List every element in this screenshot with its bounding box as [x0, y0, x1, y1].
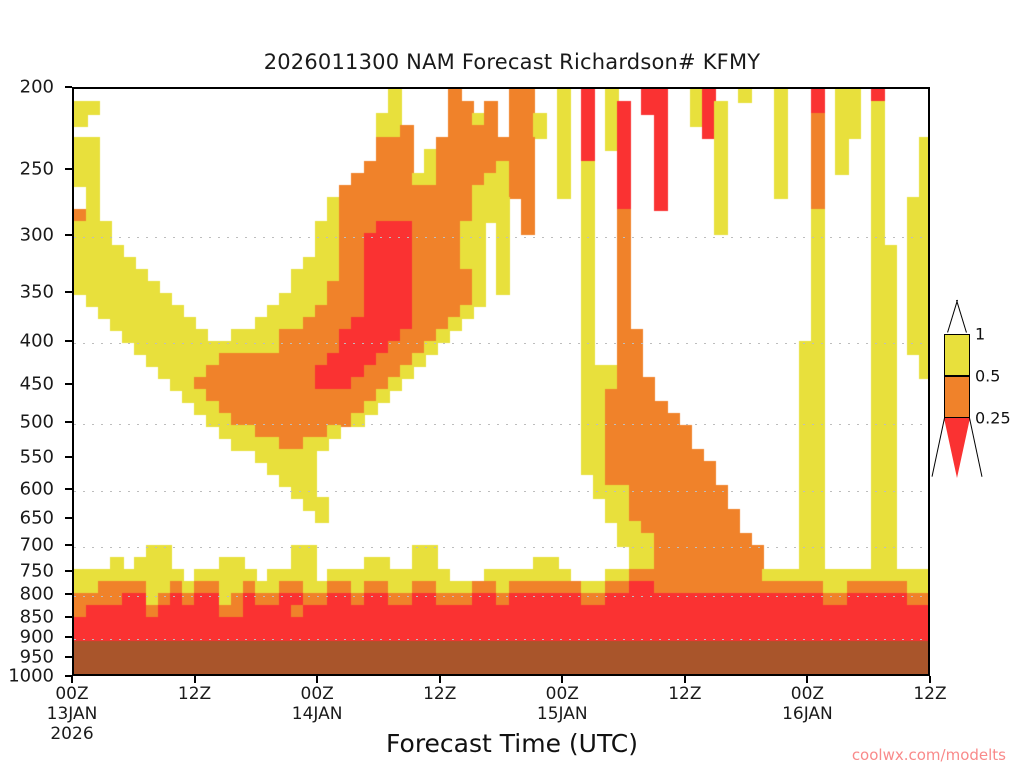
y-tick-500	[65, 421, 72, 423]
x-tick-60h	[684, 676, 686, 683]
y-tick-label-800: 800	[20, 584, 54, 605]
x-tick-time-48h: 00Z	[546, 684, 579, 704]
y-tick-750	[65, 570, 72, 572]
y-tick-850	[65, 616, 72, 618]
y-tick-200	[65, 86, 72, 88]
y-tick-300	[65, 234, 72, 236]
x-tick-date-0h: 13JAN	[47, 704, 98, 724]
y-tick-label-400: 400	[20, 330, 54, 351]
colorbar-segment-1	[944, 334, 970, 376]
plot-area	[72, 87, 930, 676]
y-tick-label-450: 450	[20, 373, 54, 394]
y-tick-label-850: 850	[20, 606, 54, 627]
watermark: coolwx.com/modelts	[852, 746, 1006, 764]
y-tick-label-650: 650	[20, 508, 54, 529]
y-tick-label-750: 750	[20, 560, 54, 581]
x-tick-date-72h: 16JAN	[782, 704, 833, 724]
y-tick-550	[65, 456, 72, 458]
y-axis: 2002503003504004505005506006507007508008…	[0, 87, 66, 676]
y-tick-label-250: 250	[20, 158, 54, 179]
x-tick-time-24h: 00Z	[301, 684, 334, 704]
x-tick-time-12h: 12Z	[178, 684, 211, 704]
x-tick-72h	[806, 676, 808, 683]
x-tick-12h	[194, 676, 196, 683]
x-tick-time-60h: 12Z	[668, 684, 701, 704]
y-tick-label-900: 900	[20, 627, 54, 648]
y-tick-450	[65, 383, 72, 385]
x-tick-24h	[316, 676, 318, 683]
y-tick-label-500: 500	[20, 412, 54, 433]
colorbar-label-1: 1	[975, 325, 985, 344]
colorbar-legend: 10.50.25	[941, 300, 1021, 480]
x-tick-date-24h: 14JAN	[292, 704, 343, 724]
y-tick-600	[65, 488, 72, 490]
x-tick-0h	[71, 676, 73, 683]
y-tick-250	[65, 168, 72, 170]
chart-title: 2026011300 NAM Forecast Richardson# KFMY	[0, 50, 1024, 74]
colorbar-under-arrow	[944, 418, 970, 478]
x-tick-time-0h: 00Z	[55, 684, 88, 704]
y-tick-800	[65, 593, 72, 595]
x-tick-time-72h: 00Z	[791, 684, 824, 704]
heatmap-canvas	[74, 89, 930, 676]
colorbar-segment-2	[944, 376, 970, 418]
x-tick-date-48h: 15JAN	[537, 704, 588, 724]
x-tick-36h	[439, 676, 441, 683]
y-tick-650	[65, 517, 72, 519]
colorbar-label-0.5: 0.5	[975, 367, 1000, 386]
y-tick-400	[65, 340, 72, 342]
y-tick-1000	[65, 675, 72, 677]
y-tick-900	[65, 636, 72, 638]
y-tick-label-300: 300	[20, 225, 54, 246]
y-tick-label-200: 200	[20, 77, 54, 98]
x-tick-84h	[929, 676, 931, 683]
y-tick-label-350: 350	[20, 281, 54, 302]
y-tick-label-550: 550	[20, 447, 54, 468]
y-tick-label-600: 600	[20, 479, 54, 500]
x-tick-time-84h: 12Z	[913, 684, 946, 704]
y-tick-950	[65, 656, 72, 658]
chart-root: 2026011300 NAM Forecast Richardson# KFMY…	[0, 0, 1024, 768]
y-tick-700	[65, 544, 72, 546]
y-tick-label-700: 700	[20, 535, 54, 556]
x-tick-48h	[561, 676, 563, 683]
y-tick-350	[65, 291, 72, 293]
colorbar-label-0.25: 0.25	[975, 409, 1011, 428]
x-tick-time-36h: 12Z	[423, 684, 456, 704]
